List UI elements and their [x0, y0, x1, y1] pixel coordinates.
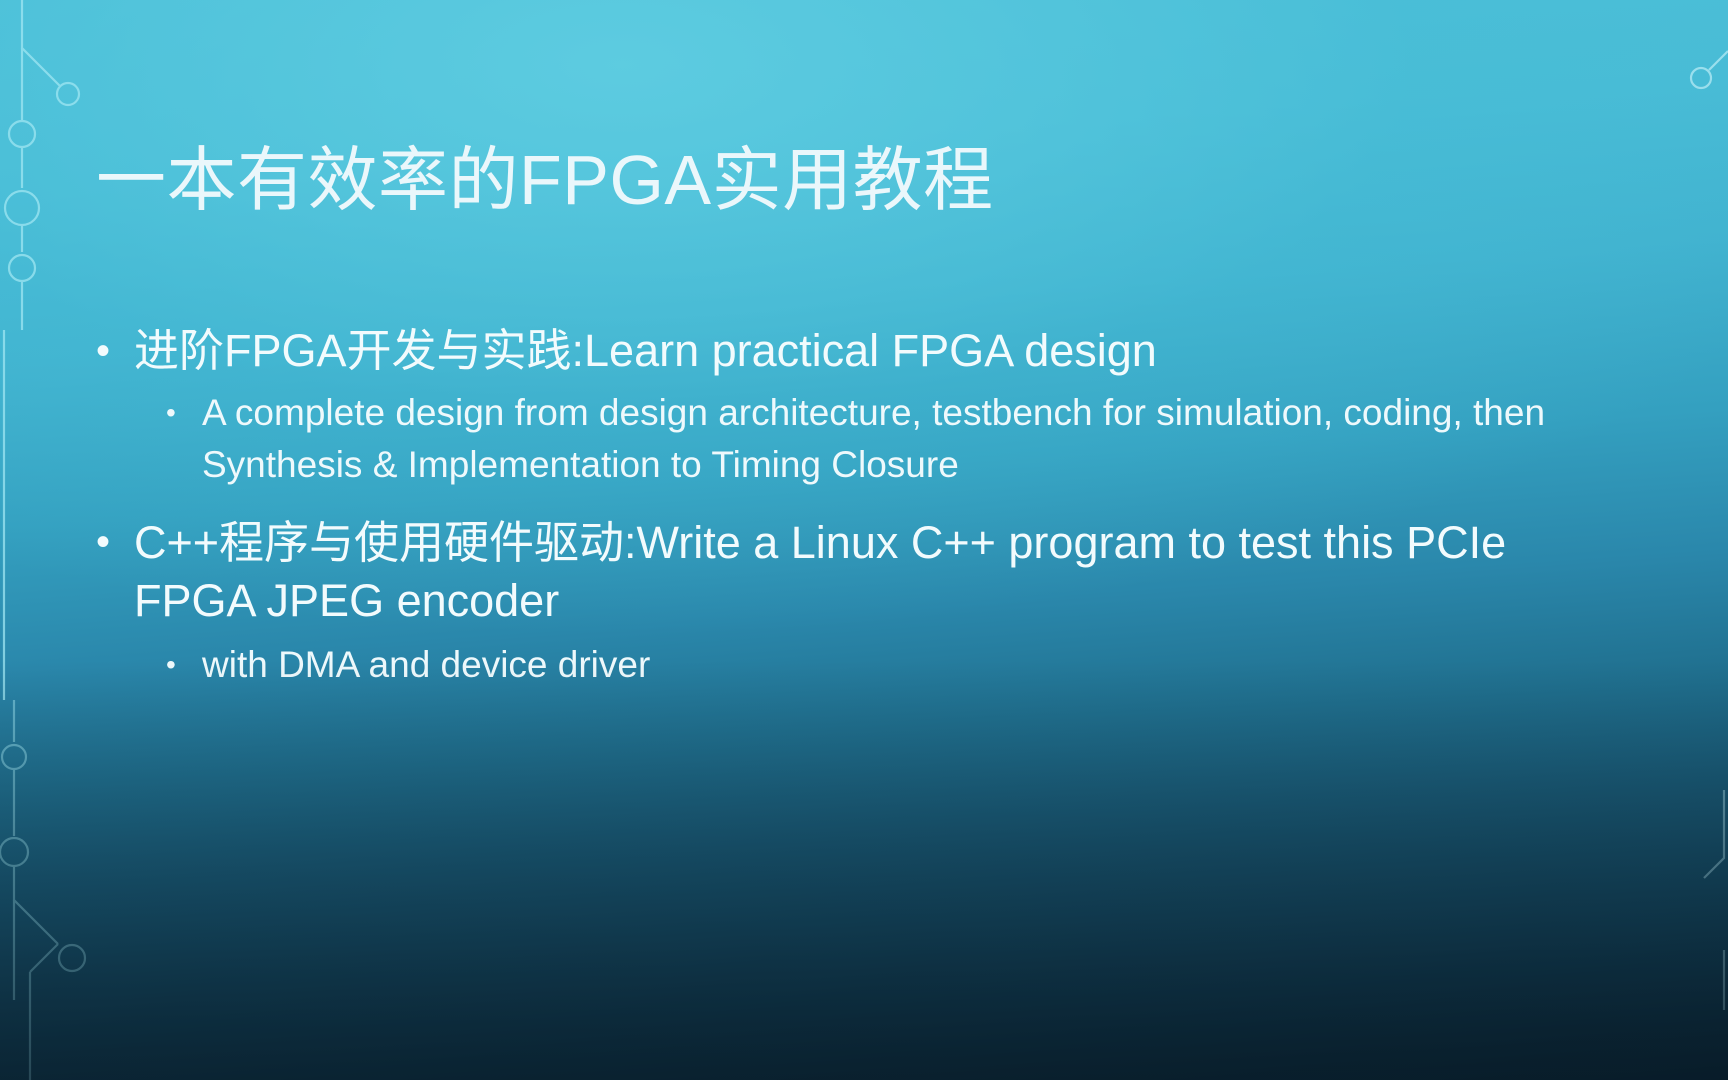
slide-body-list: • 进阶FPGA开发与实践:Learn practical FPGA desig…: [92, 322, 1612, 705]
presentation-slide: 一本有效率的FPGA实用教程 • 进阶FPGA开发与实践:Learn pract…: [0, 0, 1728, 1080]
bullet-level1-item-2: • C++程序与使用硬件驱动:Write a Linux C++ program…: [92, 514, 1612, 631]
bullet-level2-text-2-1: with DMA and device driver: [202, 644, 650, 685]
slide-content: 一本有效率的FPGA实用教程 • 进阶FPGA开发与实践:Learn pract…: [0, 0, 1728, 1080]
sub-bullet-point-icon: •: [166, 639, 176, 691]
sub-bullet-point-icon: •: [166, 387, 176, 439]
bullet-level2-text-1-1: A complete design from design architectu…: [202, 392, 1545, 486]
bullet-level1-item-1: • 进阶FPGA开发与实践:Learn practical FPGA desig…: [92, 322, 1612, 381]
bullet-group-1: • 进阶FPGA开发与实践:Learn practical FPGA desig…: [92, 322, 1612, 492]
slide-title: 一本有效率的FPGA实用教程: [96, 143, 1576, 217]
bullet-group-2: • C++程序与使用硬件驱动:Write a Linux C++ program…: [92, 514, 1612, 692]
bullet-level1-text-2: C++程序与使用硬件驱动:Write a Linux C++ program t…: [134, 517, 1506, 627]
bullet-level1-text-1: 进阶FPGA开发与实践:Learn practical FPGA design: [134, 325, 1157, 376]
bullet-point-icon: •: [96, 323, 110, 380]
bullet-point-icon: •: [96, 514, 110, 571]
bullet-level2-item-1-1: • A complete design from design architec…: [92, 387, 1612, 492]
bullet-level2-item-2-1: • with DMA and device driver: [92, 639, 1612, 692]
